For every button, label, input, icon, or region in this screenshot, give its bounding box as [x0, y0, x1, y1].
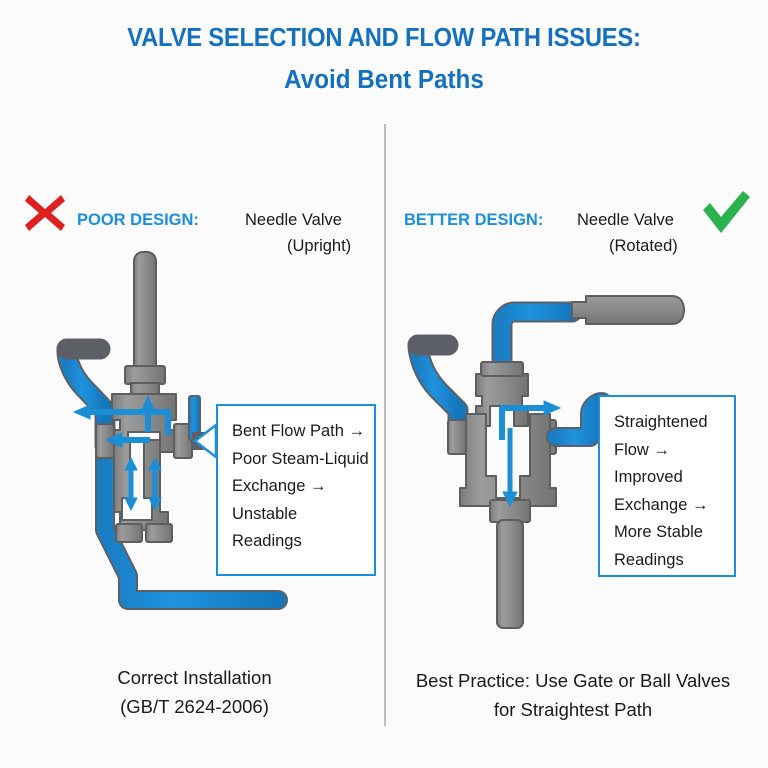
page-title-line-2: Avoid Bent Paths: [19, 66, 749, 95]
left-panel-caption: Correct Installation (GB/T 2624-2006): [22, 663, 367, 721]
right-panel-caption: Best Practice: Use Gate or Ball Valves f…: [398, 666, 748, 724]
panel-divider: [384, 124, 386, 726]
caption-right-line-2: for Straightest Path: [398, 695, 748, 724]
caption-left-line-1: Correct Installation: [22, 663, 367, 692]
callout-left-line-3: Exchange →: [232, 473, 374, 501]
page-title-line-1: VALVE SELECTION AND FLOW PATH ISSUES:: [27, 24, 741, 53]
check-mark-icon: [700, 190, 752, 236]
better-design-label: BETTER DESIGN:: [404, 211, 543, 230]
poor-design-valve-name: Needle Valve: [245, 211, 342, 230]
callout-right-line-1: Straightened: [614, 409, 734, 437]
better-design-callout: Straightened Flow → Improved Exchange → …: [598, 395, 736, 577]
callout-right-line-4: Exchange →: [614, 492, 734, 520]
better-design-valve-state: (Rotated): [609, 237, 678, 256]
callout-left-line-1: Bent Flow Path →: [232, 418, 374, 446]
diagram-canvas: VALVE SELECTION AND FLOW PATH ISSUES: Av…: [0, 0, 768, 768]
poor-design-callout: Bent Flow Path → Poor Steam-Liquid Excha…: [216, 404, 376, 576]
caption-left-line-2: (GB/T 2624-2006): [22, 692, 367, 721]
callout-right-line-3: Improved: [614, 464, 734, 492]
x-mark-icon: [22, 190, 68, 236]
callout-left-line-2: Poor Steam-Liquid: [232, 446, 374, 474]
caption-right-line-1: Best Practice: Use Gate or Ball Valves: [398, 666, 748, 695]
callout-right-line-5: More Stable: [614, 519, 734, 547]
callout-right-line-6: Readings: [614, 547, 734, 575]
poor-design-valve-state: (Upright): [287, 237, 351, 256]
callout-right-line-2: Flow →: [614, 437, 734, 465]
callout-left-line-5: Readings: [232, 528, 374, 556]
better-design-valve-name: Needle Valve: [577, 211, 674, 230]
poor-design-label: POOR DESIGN:: [77, 211, 199, 230]
callout-left-line-4: Unstable: [232, 501, 374, 529]
